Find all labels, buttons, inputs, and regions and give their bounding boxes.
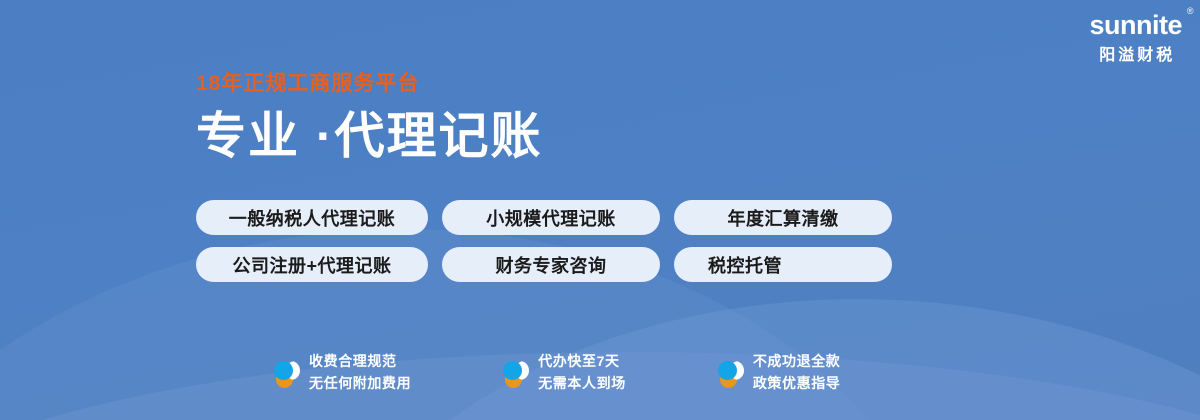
eclipse-dot-icon <box>274 358 300 388</box>
service-pill-general-taxpayer[interactable]: 一般纳税人代理记账 <box>196 200 428 235</box>
feature-strip: 收费合理规范 无任何附加费用 代办快至7天 无需本人到场 不成功退全款 <box>274 351 840 395</box>
feature-line-2: 政策优惠指导 <box>753 375 841 391</box>
service-pill-company-registration[interactable]: 公司注册+代理记账 <box>196 247 428 282</box>
eclipse-dot-icon <box>503 358 529 388</box>
feature-line-1: 代办快至7天 <box>538 353 619 369</box>
logo-chinese-name: 阳溢财税 <box>1089 48 1182 64</box>
feature-line-2: 无任何附加费用 <box>309 375 411 391</box>
service-pill-grid: 一般纳税人代理记账 小规模代理记账 年度汇算清缴 公司注册+代理记账 财务专家咨… <box>196 200 892 282</box>
feature-item-pricing: 收费合理规范 无任何附加费用 <box>274 351 411 395</box>
feature-item-guarantee: 不成功退全款 政策优惠指导 <box>718 351 841 395</box>
registered-trademark-icon: ® <box>1187 7 1193 16</box>
service-pill-expert-consulting[interactable]: 财务专家咨询 <box>442 247 660 282</box>
feature-line-2: 无需本人到场 <box>538 375 626 391</box>
feature-text: 收费合理规范 无任何附加费用 <box>309 351 411 395</box>
feature-text: 不成功退全款 政策优惠指导 <box>753 351 841 395</box>
brand-logo[interactable]: sunnite ® 阳溢财税 <box>1089 12 1182 64</box>
hero-copy: 18年正规工商服务平台 专业 ·代理记账 <box>196 72 543 163</box>
feature-line-1: 不成功退全款 <box>753 353 841 369</box>
eclipse-dot-icon <box>718 358 744 388</box>
feature-text: 代办快至7天 无需本人到场 <box>538 351 626 395</box>
promo-banner: sunnite ® 阳溢财税 18年正规工商服务平台 专业 ·代理记账 一般纳税… <box>0 0 1200 420</box>
feature-line-1: 收费合理规范 <box>309 353 397 369</box>
service-pill-small-scale[interactable]: 小规模代理记账 <box>442 200 660 235</box>
service-pill-tax-control-hosting[interactable]: 税控托管 <box>674 247 892 282</box>
feature-item-speed: 代办快至7天 无需本人到场 <box>503 351 626 395</box>
hero-eyebrow: 18年正规工商服务平台 <box>196 72 543 95</box>
logo-wordmark-text: sunnite <box>1089 10 1182 40</box>
service-pill-annual-settlement[interactable]: 年度汇算清缴 <box>674 200 892 235</box>
logo-wordmark: sunnite ® <box>1089 12 1182 39</box>
page-title: 专业 ·代理记账 <box>196 109 543 163</box>
